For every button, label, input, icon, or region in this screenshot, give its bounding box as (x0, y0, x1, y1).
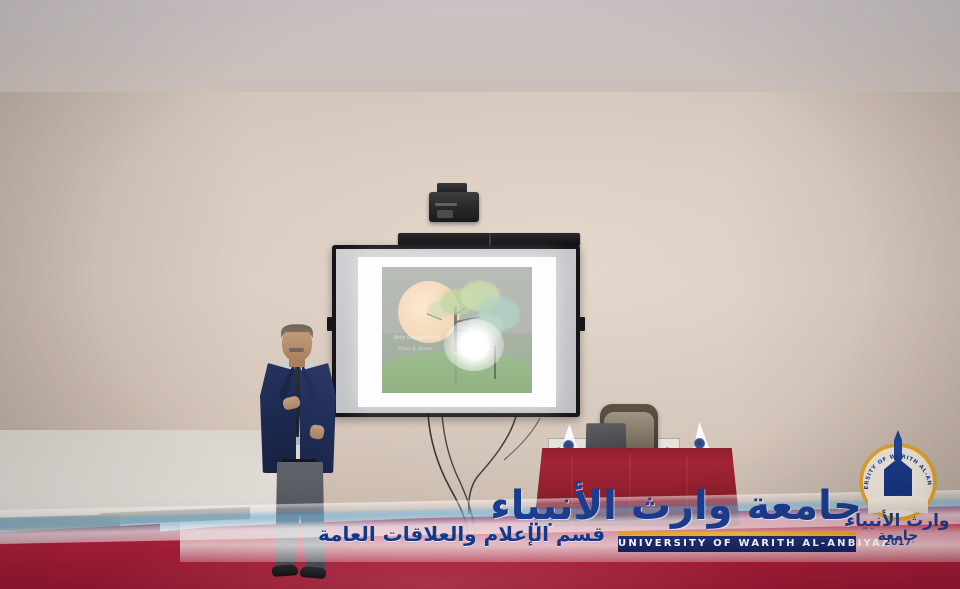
board-side-bracket (580, 317, 585, 331)
slide-title: Arts Department (394, 335, 440, 341)
university-wordmark: جامعة وارث الأنبياء UNIVERSITY OF WARITH… (612, 478, 862, 564)
emblem-year: 2017 (846, 538, 950, 548)
wordmark-arabic: جامعة وارث الأنبياء (612, 480, 862, 532)
wordmark-gold-rule (618, 532, 856, 535)
whiteboard-surface: Arts Department Class & Green (336, 249, 576, 413)
pen-nib-icon (894, 430, 902, 460)
projector-icon (429, 192, 479, 222)
interactive-whiteboard[interactable]: Arts Department Class & Green (332, 245, 580, 417)
trousers (274, 462, 326, 570)
right-shoe (300, 566, 327, 579)
wordmark-english: UNIVERSITY OF WARITH AL-ANBIYAA (618, 536, 856, 552)
right-hand (309, 424, 325, 440)
photograph: Arts Department Class & Green (0, 0, 960, 589)
laptop-screen[interactable] (586, 423, 627, 451)
presenter (244, 325, 354, 589)
projector-lens-icon (437, 210, 453, 218)
university-emblem: UNIVERSITY OF WARITH AL-ANBIYAA وارث الأ… (846, 432, 950, 550)
tree-foliage (428, 301, 450, 319)
slide-subtitle: Class & Green (398, 347, 432, 352)
presentation-slide: Arts Department Class & Green (382, 267, 532, 393)
pennant-emblem-icon (694, 438, 705, 449)
projector-hotspot (444, 319, 504, 371)
projector-brand-strip (435, 203, 457, 206)
left-shoe (272, 564, 299, 577)
mustache (289, 348, 304, 352)
projected-area: Arts Department Class & Green (358, 257, 556, 407)
ceiling (0, 0, 960, 100)
